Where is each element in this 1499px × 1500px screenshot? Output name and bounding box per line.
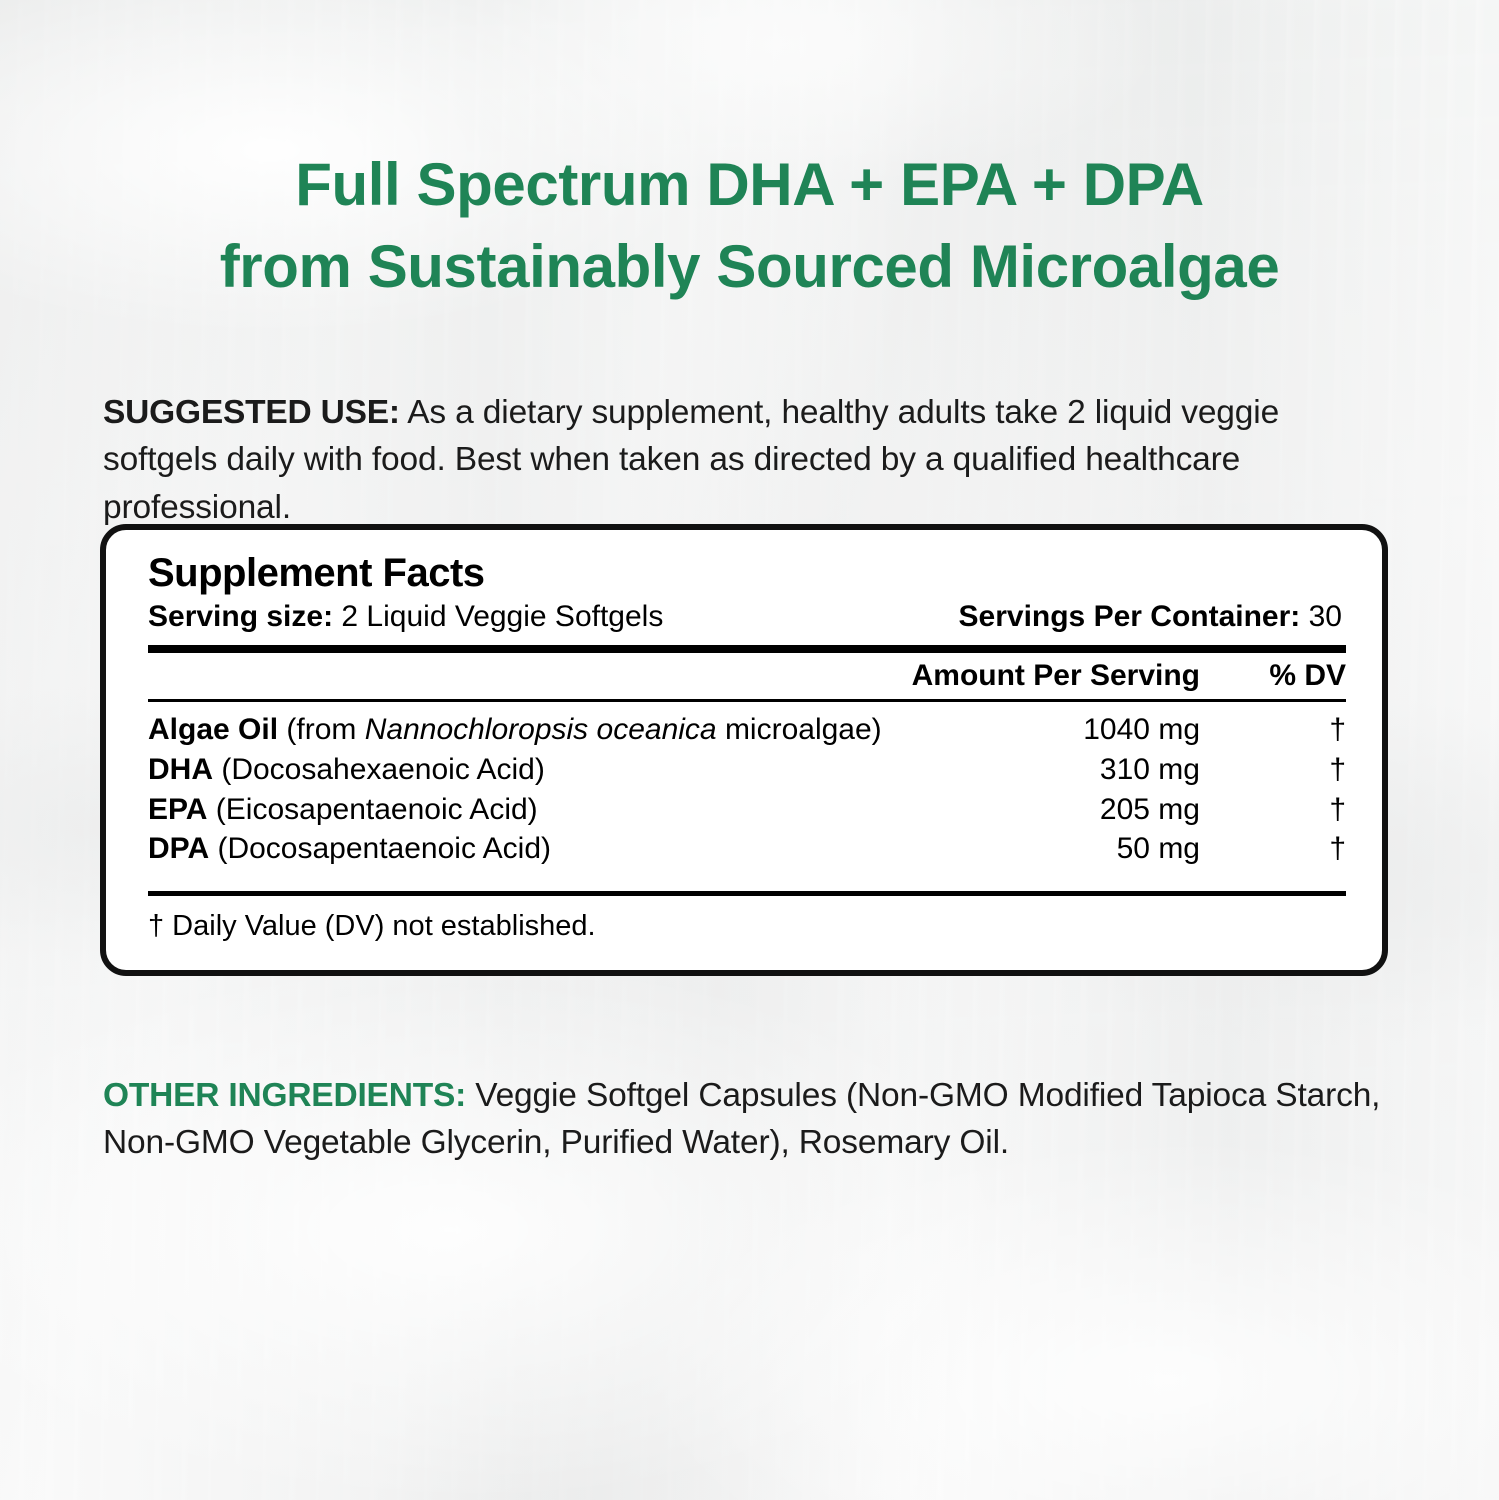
table-row: Algae Oil (from Nannochloropsis oceanica… <box>148 710 1346 750</box>
nutrient-name-cell: DHA (Docosahexaenoic Acid) <box>148 750 940 790</box>
nutrient-descriptor-pre: (Eicosapentaenoic Acid) <box>207 793 537 826</box>
nutrient-name-cell: DPA (Docosapentaenoic Acid) <box>148 829 940 869</box>
table-row: EPA (Eicosapentaenoic Acid) 205 mg † <box>148 790 1346 830</box>
nutrient-amount: 1040 mg <box>940 710 1200 750</box>
other-ingredients-label: OTHER INGREDIENTS: <box>103 1077 466 1114</box>
nutrient-dv: † <box>1200 710 1346 750</box>
label-page: Full Spectrum DHA + EPA + DPA from Susta… <box>0 0 1499 1500</box>
nutrient-name-cell: Algae Oil (from Nannochloropsis oceanica… <box>148 710 940 750</box>
servings-per-container-label: Servings Per Container: <box>959 600 1301 633</box>
nutrient-species-name: Nannochloropsis oceanica <box>365 713 717 746</box>
column-header-amount: Amount Per Serving <box>912 659 1200 693</box>
page-title-line-1: Full Spectrum DHA + EPA + DPA <box>0 144 1499 226</box>
nutrient-descriptor-pre: (Docosapentaenoic Acid) <box>209 832 551 865</box>
page-title-line-2: from Sustainably Sourced Microalgae <box>0 226 1499 308</box>
nutrient-name: DPA <box>148 832 209 865</box>
nutrient-name-cell: EPA (Eicosapentaenoic Acid) <box>148 790 940 830</box>
column-header-dv: % DV <box>1200 659 1346 693</box>
servings-per-container: Servings Per Container: 30 <box>959 600 1342 634</box>
suggested-use-label: SUGGESTED USE: <box>103 394 400 431</box>
serving-size-value: 2 Liquid Veggie Softgels <box>333 600 663 633</box>
nutrient-rows: Algae Oil (from Nannochloropsis oceanica… <box>148 702 1346 868</box>
supplement-facts-panel: Supplement Facts Serving size: 2 Liquid … <box>100 524 1388 976</box>
nutrient-name: Algae Oil <box>148 713 278 746</box>
nutrient-dv: † <box>1200 750 1346 790</box>
table-column-headers: Amount Per Serving % DV <box>148 653 1346 699</box>
nutrient-descriptor-pre: (from <box>278 713 365 746</box>
nutrient-descriptor-pre: (Docosahexaenoic Acid) <box>213 753 545 786</box>
nutrient-dv: † <box>1200 790 1346 830</box>
servings-per-container-value: 30 <box>1300 600 1342 633</box>
nutrient-amount: 50 mg <box>940 829 1200 869</box>
nutrient-name: DHA <box>148 753 213 786</box>
rule-above-columns <box>148 645 1346 653</box>
serving-size: Serving size: 2 Liquid Veggie Softgels <box>148 600 663 634</box>
supplement-facts-title: Supplement Facts <box>148 552 1346 594</box>
serving-info-row: Serving size: 2 Liquid Veggie Softgels S… <box>148 600 1346 634</box>
nutrient-descriptor-post: microalgae) <box>717 713 882 746</box>
daily-value-footnote: † Daily Value (DV) not established. <box>148 896 1346 943</box>
page-title: Full Spectrum DHA + EPA + DPA from Susta… <box>0 144 1499 308</box>
serving-size-label: Serving size: <box>148 600 333 633</box>
table-row: DHA (Docosahexaenoic Acid) 310 mg † <box>148 750 1346 790</box>
nutrient-amount: 205 mg <box>940 790 1200 830</box>
suggested-use-paragraph: SUGGESTED USE: As a dietary supplement, … <box>103 389 1391 532</box>
nutrient-amount: 310 mg <box>940 750 1200 790</box>
table-row: DPA (Docosapentaenoic Acid) 50 mg † <box>148 829 1346 869</box>
other-ingredients-paragraph: OTHER INGREDIENTS: Veggie Softgel Capsul… <box>103 1072 1395 1167</box>
nutrient-dv: † <box>1200 829 1346 869</box>
nutrient-name: EPA <box>148 793 207 826</box>
